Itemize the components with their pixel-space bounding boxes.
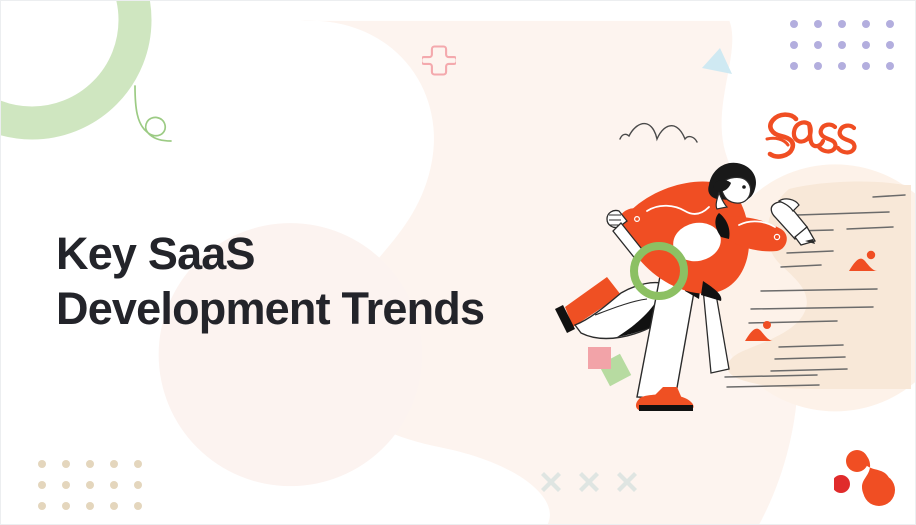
dot — [838, 41, 846, 49]
dot — [110, 460, 118, 468]
dot-grid-bottom-left — [38, 460, 158, 523]
dot — [838, 20, 846, 28]
dot — [86, 460, 94, 468]
page-title: Key SaaS Development Trends — [56, 226, 526, 336]
dot-grid-top-right — [790, 20, 910, 83]
dot — [814, 62, 822, 70]
orange-blob — [834, 449, 896, 507]
x-icon — [537, 468, 565, 496]
dot — [862, 62, 870, 70]
dot — [38, 460, 46, 468]
dot — [790, 62, 798, 70]
dot — [134, 460, 142, 468]
slide-canvas: Key SaaS Development Trends — [0, 0, 916, 525]
dot — [134, 502, 142, 510]
dot — [862, 41, 870, 49]
dot — [86, 481, 94, 489]
dot — [110, 481, 118, 489]
dot — [790, 41, 798, 49]
title-line-2: Development Trends — [56, 281, 526, 336]
dot — [38, 502, 46, 510]
x-icon — [613, 468, 641, 496]
title-line-1: Key SaaS — [56, 226, 526, 281]
curly-line-icon — [127, 84, 175, 146]
dot — [886, 41, 894, 49]
x-icon — [575, 468, 603, 496]
dot — [862, 20, 870, 28]
dot — [838, 62, 846, 70]
triangle-shape — [701, 47, 733, 77]
dot — [790, 20, 798, 28]
x-marks-group — [537, 468, 643, 500]
dot — [814, 20, 822, 28]
dot — [814, 41, 822, 49]
dot — [62, 502, 70, 510]
dot — [62, 481, 70, 489]
cloud-line — [618, 114, 710, 148]
dot — [886, 20, 894, 28]
plus-icon — [422, 44, 456, 78]
dot — [62, 460, 70, 468]
dot — [110, 502, 118, 510]
dot — [134, 481, 142, 489]
dot — [86, 502, 94, 510]
overlapping-squares — [584, 343, 636, 391]
dot — [886, 62, 894, 70]
dot — [38, 481, 46, 489]
